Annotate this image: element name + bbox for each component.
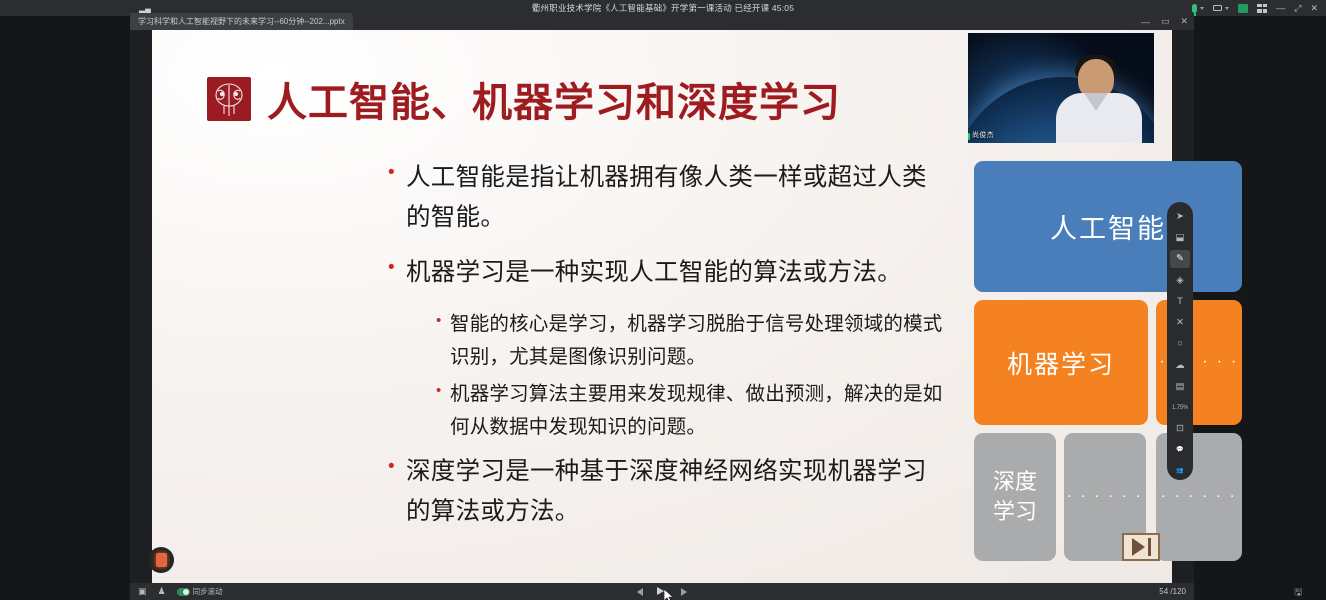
ppt-file-tab[interactable]: 学习科学和人工智能视野下的未来学习--60分钟--202...pptx <box>130 13 353 30</box>
diagram-box-dl: 深度学习 <box>974 433 1056 561</box>
chat-icon[interactable]: 💬 <box>1170 442 1190 459</box>
presenter-video-thumbnail[interactable]: 尚俊杰 <box>968 33 1154 143</box>
cloud-icon[interactable]: ☁ <box>1170 357 1190 374</box>
diagram-box-ml: 机器学习 <box>974 300 1148 425</box>
bullet-marker: • <box>388 253 406 293</box>
bullet-marker: • <box>388 158 406 238</box>
select-box-icon[interactable]: ⬓ <box>1170 229 1190 246</box>
participants-icon[interactable]: 👥 <box>1170 463 1190 480</box>
sub-bullet-item-2: • 机器学习算法主要用来发现规律、做出预测，解决的是如何从数据中发现知识的问题。 <box>436 378 948 444</box>
bullet-text: 人工智能是指让机器拥有像人类一样或超过人类的智能。 <box>406 158 948 238</box>
meeting-controls: — ⤢ ✕ <box>1192 0 1318 16</box>
signal-bars-icon: ▂▄ <box>139 4 151 13</box>
eraser-icon[interactable]: ◈ <box>1170 272 1190 289</box>
bullet-item-1: • 人工智能是指让机器拥有像人类一样或超过人类的智能。 <box>388 158 948 238</box>
mouse-cursor-icon <box>664 589 673 600</box>
bullet-marker: • <box>436 308 450 374</box>
edit-icon[interactable]: ⊡ <box>1170 420 1190 437</box>
save-icon[interactable]: 🖫 <box>1294 588 1302 598</box>
diagram-box-dl-label: 深度学习 <box>993 467 1037 527</box>
slide-bullet-list: • 人工智能是指让机器拥有像人类一样或超过人类的智能。 • 机器学习是一种实现人… <box>388 158 948 547</box>
prev-slide-icon[interactable] <box>637 588 643 596</box>
presenter-figure <box>1052 57 1148 143</box>
next-slide-icon[interactable] <box>681 588 687 596</box>
sub-bullet-list: • 智能的核心是学习，机器学习脱胎于信号处理领域的模式识别，尤其是图像识别问题。… <box>436 308 948 444</box>
chevron-down-icon-mic[interactable] <box>1200 7 1204 10</box>
circle-shape-icon[interactable]: ○ <box>1170 335 1190 352</box>
left-gutter <box>0 0 130 600</box>
sub-bullet-item-1: • 智能的核心是学习，机器学习脱胎于信号处理领域的模式识别，尤其是图像识别问题。 <box>436 308 948 374</box>
restore-button[interactable]: ⤢ <box>1294 0 1301 16</box>
close-shape-icon[interactable]: ✕ <box>1170 314 1190 331</box>
participant-name-label: 尚俊杰 <box>972 130 994 140</box>
play-to-end-button[interactable] <box>1122 533 1160 561</box>
screen: 衢州职业技术学院《人工智能基础》开学第一课活动 已经开课 45:05 — ⤢ ✕… <box>0 0 1326 600</box>
annotation-toolbar: ➤ ⬓ ✎ ◈ T ✕ ○ ☁ ▤ 1.75% ⊡ 💬 👥 <box>1167 202 1193 480</box>
text-icon[interactable]: T <box>1170 293 1190 310</box>
bullet-text: 机器学习是一种实现人工智能的算法或方法。 <box>406 253 902 293</box>
bullet-item-3: • 深度学习是一种基于深度神经网络实现机器学习的算法或方法。 <box>388 452 948 532</box>
bullet-item-2: • 机器学习是一种实现人工智能的算法或方法。 <box>388 253 948 293</box>
ppt-statusbar: ▣ ♟ 同步滚动 54 /120 <box>130 583 1194 600</box>
ppt-minimize-button[interactable]: — <box>1141 17 1150 27</box>
share-screen-icon[interactable] <box>1238 4 1248 13</box>
toolbox-icon[interactable]: ▤ <box>1170 378 1190 395</box>
cursor-icon[interactable]: ➤ <box>1170 208 1190 225</box>
minimize-button[interactable]: — <box>1276 0 1285 16</box>
chevron-down-icon-camera[interactable] <box>1225 7 1229 10</box>
ppt-window-controls: — ▭ ✕ <box>1141 13 1188 30</box>
slide-title-row: 人工智能、机器学习和深度学习 <box>207 70 841 128</box>
microphone-icon[interactable] <box>1192 4 1197 13</box>
mic-active-icon <box>968 133 970 140</box>
recording-indicator-icon <box>148 547 174 573</box>
camera-icon[interactable] <box>1213 5 1222 11</box>
red-brain-badge-icon <box>207 77 251 121</box>
diagram-box-ai: 人工智能 <box>974 161 1242 292</box>
bullet-text: 智能的核心是学习，机器学习脱胎于信号处理领域的模式识别，尤其是图像识别问题。 <box>450 308 948 374</box>
ppt-close-button[interactable]: ✕ <box>1180 16 1188 27</box>
bullet-marker: • <box>436 378 450 444</box>
bullet-marker: • <box>388 452 406 532</box>
ai-ml-dl-diagram: 人工智能 机器学习 · · · · · · 深度学习 · · · · · · ·… <box>974 161 1246 561</box>
page-title: 人工智能、机器学习和深度学习 <box>267 70 841 128</box>
statusbar-nav-group <box>130 587 1194 596</box>
close-button[interactable]: ✕ <box>1310 0 1318 16</box>
ppt-tabbar: 学习科学和人工智能视野下的未来学习--60分钟--202...pptx — ▭ … <box>130 13 1194 30</box>
bullet-text: 深度学习是一种基于深度神经网络实现机器学习的算法或方法。 <box>406 452 948 532</box>
statusbar-right-group: 54 /120 <box>1159 587 1186 596</box>
grid-view-icon[interactable] <box>1257 4 1267 13</box>
pen-icon[interactable]: ✎ <box>1170 250 1190 267</box>
save-glyph: 🖫 <box>1294 588 1302 598</box>
bullet-text: 机器学习算法主要用来发现规律、做出预测，解决的是如何从数据中发现知识的问题。 <box>450 378 948 444</box>
zoom-level-label: 1.75% <box>1170 399 1190 416</box>
page-indicator: 54 /120 <box>1159 587 1186 596</box>
ppt-maximize-button[interactable]: ▭ <box>1161 16 1170 27</box>
play-triangle-icon <box>1132 538 1145 556</box>
play-end-bar-icon <box>1148 538 1151 556</box>
